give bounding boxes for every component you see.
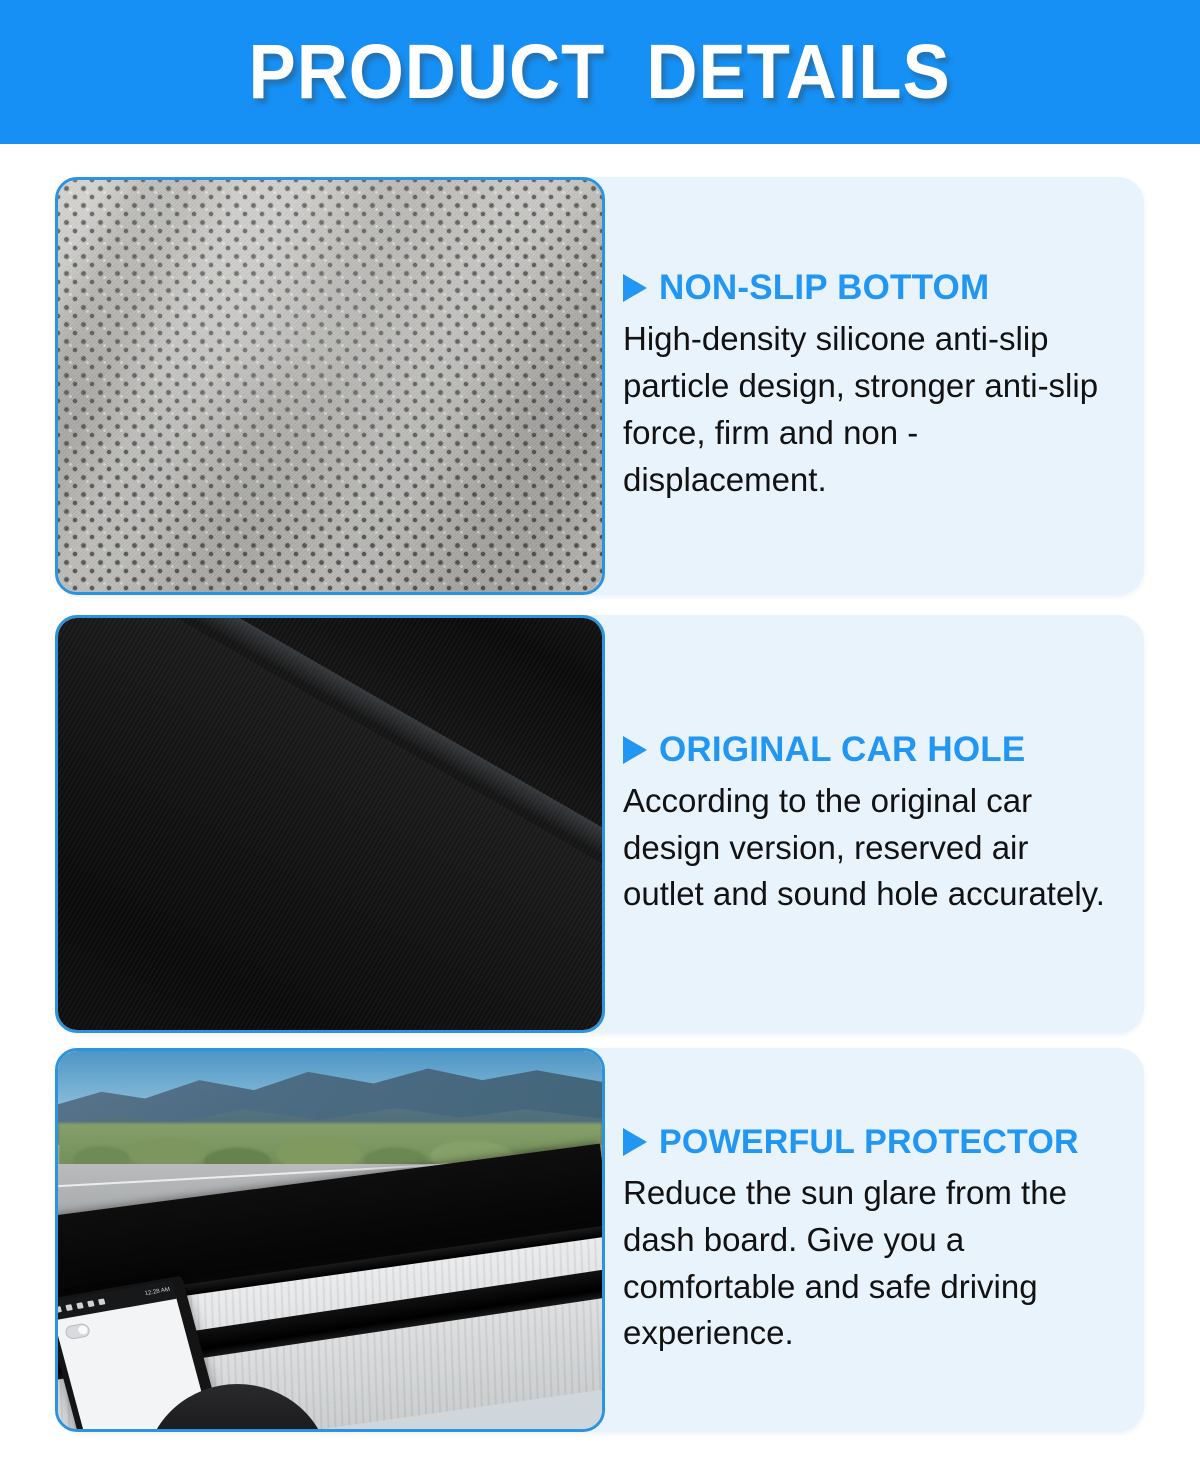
fabric-lighting-overlay bbox=[58, 180, 602, 592]
feature-heading-text: ORIGINAL CAR HOLE bbox=[659, 730, 1025, 770]
info-icon bbox=[76, 1303, 83, 1310]
feature-text-column: POWERFUL PROTECTOR Reduce the sun glare … bbox=[623, 1048, 1163, 1432]
feature-heading-text: POWERFUL PROTECTOR bbox=[659, 1123, 1079, 1162]
photo-inner: 12:28 AM bbox=[58, 1051, 602, 1429]
photo-inner bbox=[58, 618, 602, 1030]
gear-icon bbox=[87, 1301, 94, 1308]
page-title: PRODUCT DETAILS bbox=[249, 34, 951, 111]
feature-heading-row: POWERFUL PROTECTOR bbox=[623, 1123, 1163, 1162]
touchscreen-clock: 12:28 AM bbox=[145, 1288, 172, 1298]
feature-body-text: Reduce the sun glare from the dash board… bbox=[623, 1170, 1113, 1357]
triangle-right-icon bbox=[623, 736, 647, 764]
home-icon bbox=[58, 1307, 62, 1314]
feature-image-non-slip-bottom bbox=[55, 177, 605, 595]
feature-heading-row: NON-SLIP BOTTOM bbox=[623, 268, 1148, 308]
photo-inner bbox=[58, 180, 602, 592]
feature-image-original-car-hole bbox=[55, 615, 605, 1033]
feature-heading-text: NON-SLIP BOTTOM bbox=[659, 268, 989, 308]
feature-image-powerful-protector: 12:28 AM bbox=[55, 1048, 605, 1432]
black-velvet-diagonal-texture bbox=[58, 618, 602, 1030]
page-header-banner: PRODUCT DETAILS bbox=[0, 0, 1200, 144]
feature-text-column: ORIGINAL CAR HOLE According to the origi… bbox=[623, 615, 1148, 1033]
feature-body-text: High-density silicone anti-slip particle… bbox=[623, 316, 1113, 503]
triangle-right-icon bbox=[623, 1128, 647, 1156]
feature-text-column: NON-SLIP BOTTOM High-density silicone an… bbox=[623, 177, 1148, 595]
feature-body-text: According to the original car design ver… bbox=[623, 778, 1113, 919]
triangle-right-icon bbox=[623, 274, 647, 302]
feature-heading-row: ORIGINAL CAR HOLE bbox=[623, 730, 1148, 770]
signal-icon bbox=[66, 1305, 73, 1312]
camera-icon bbox=[98, 1299, 105, 1306]
dashboard-road-scene: 12:28 AM bbox=[58, 1051, 602, 1429]
